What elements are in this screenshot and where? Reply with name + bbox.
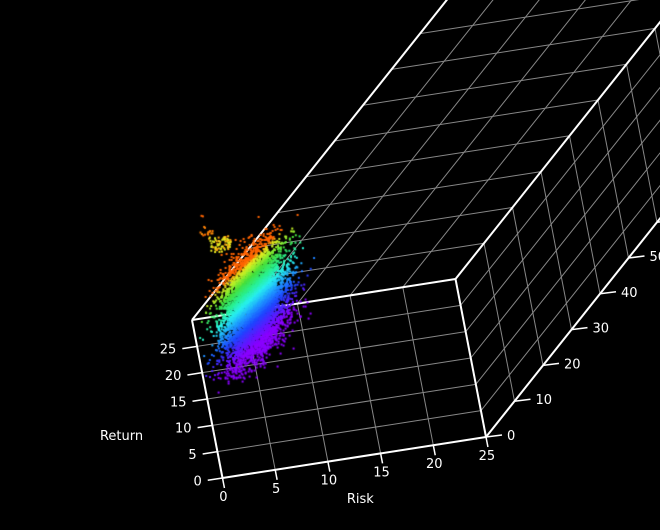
- plot-3d-scatter: 0510152025Risk0510152025Return0102030405…: [0, 0, 660, 530]
- scatter-points-layer: [0, 0, 660, 530]
